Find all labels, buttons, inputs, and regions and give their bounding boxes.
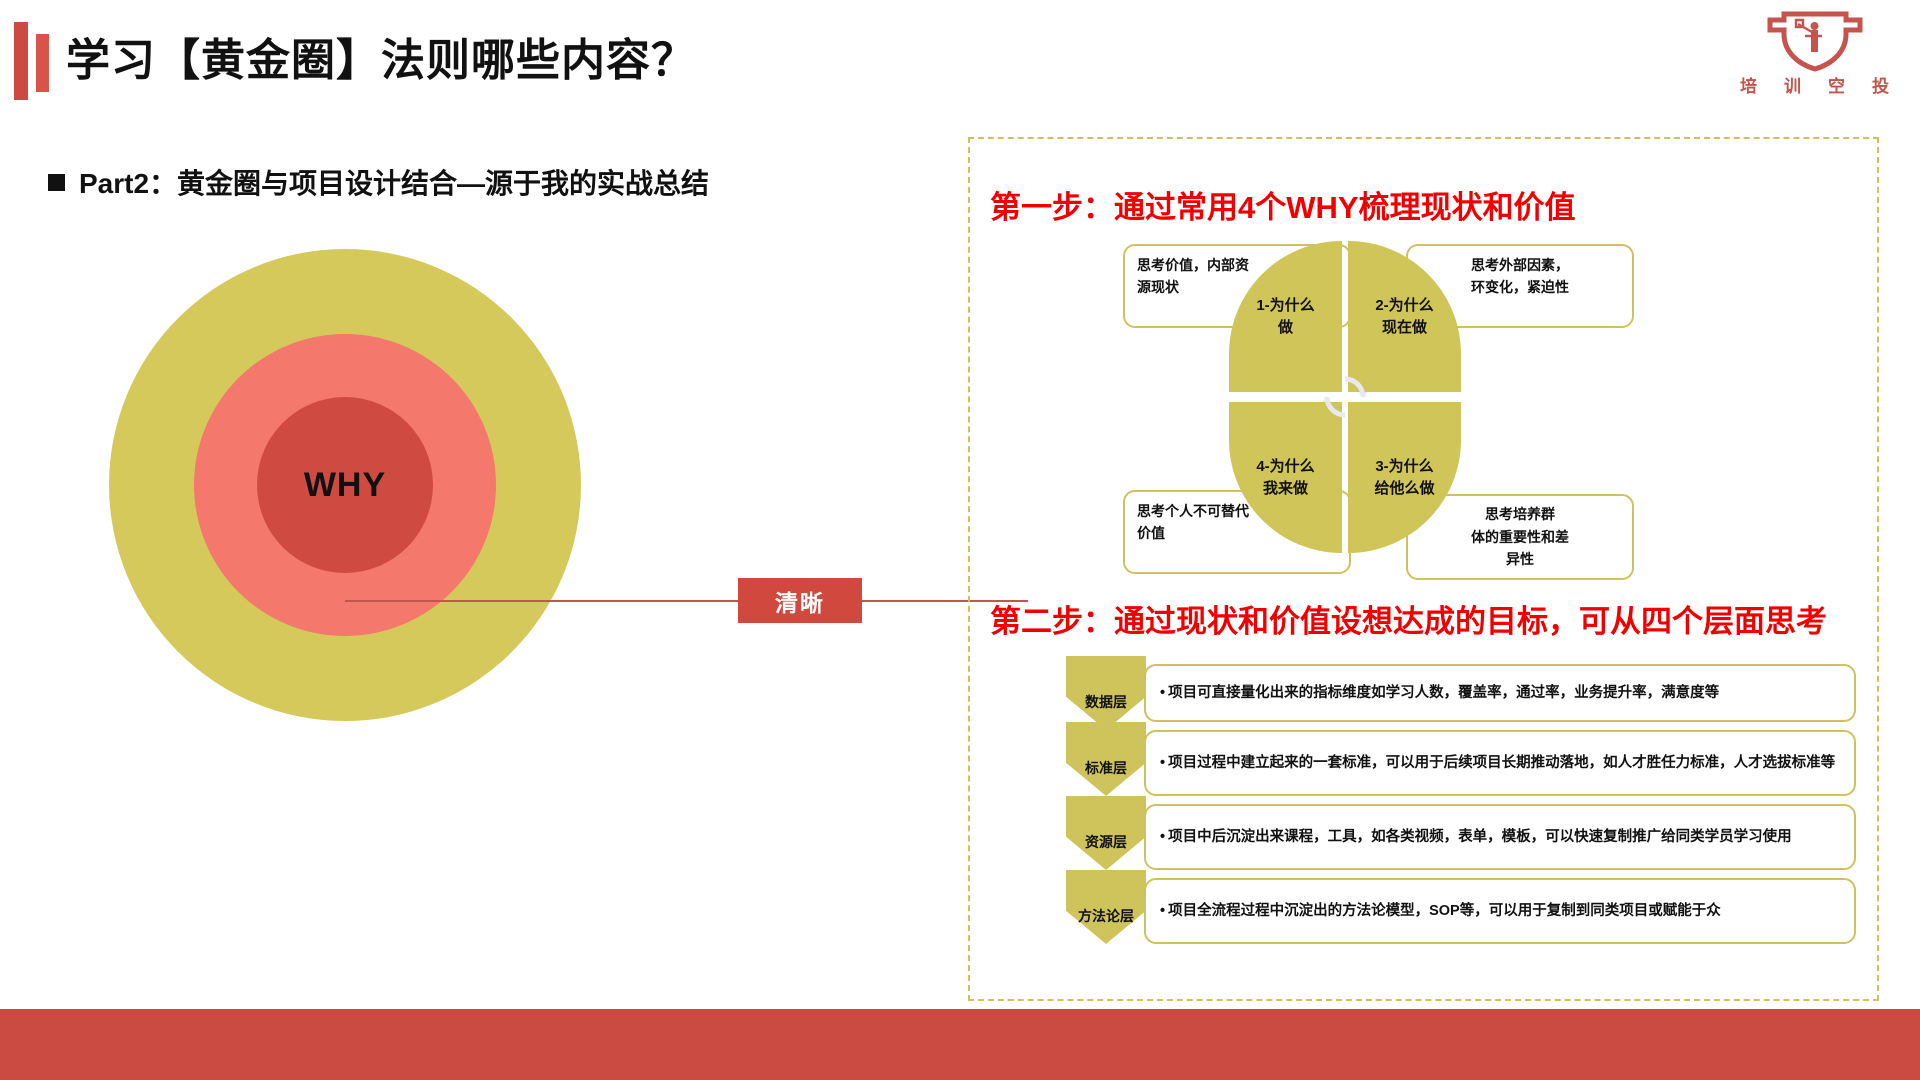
logo-char-2: 训 bbox=[1784, 72, 1802, 97]
step1-heading: 第一步：通过常用4个WHY梳理现状和价值 bbox=[990, 182, 1576, 227]
list-bullet-icon: • bbox=[1160, 752, 1165, 774]
title-accent-bar-outer bbox=[14, 22, 28, 100]
layer-description-1: 项目过程中建立起来的一套标准，可以用于后续项目长期推动落地，如人才胜任力标准，人… bbox=[1168, 752, 1835, 774]
brand-logo: 培 训 空 投 bbox=[1740, 6, 1890, 104]
square-bullet-icon bbox=[48, 174, 65, 191]
list-bullet-icon: • bbox=[1160, 900, 1165, 922]
why-callout-top-right-text: 思考外部因素，环变化，紧迫性 bbox=[1471, 257, 1569, 295]
layer-row: 标准层 • 项目过程中建立起来的一套标准，可以用于后续项目长期推动落地，如人才胜… bbox=[1066, 730, 1856, 796]
layer-description-box-1: • 项目过程中建立起来的一套标准，可以用于后续项目长期推动落地，如人才胜任力标准… bbox=[1144, 730, 1856, 796]
layer-name-3: 方法论层 bbox=[1066, 906, 1146, 926]
part-label-text: Part2：黄金圈与项目设计结合—源于我的实战总结 bbox=[79, 162, 709, 202]
layer-description-0: 项目可直接量化出来的指标维度如学习人数，覆盖率，通过率，业务提升率，满意度等 bbox=[1168, 682, 1719, 704]
part-label: Part2：黄金圈与项目设计结合—源于我的实战总结 bbox=[48, 162, 709, 202]
circular-arrows-icon bbox=[1318, 370, 1372, 424]
layer-description-box-0: • 项目可直接量化出来的指标维度如学习人数，覆盖率，通过率，业务提升率，满意度等 bbox=[1144, 664, 1856, 722]
layer-description-box-2: • 项目中后沉淀出来课程，工具，如各类视频，表单，模板，可以快速复制推广给同类学… bbox=[1144, 804, 1856, 870]
four-layers-list: 数据层 • 项目可直接量化出来的指标维度如学习人数，覆盖率，通过率，业务提升率，… bbox=[1066, 664, 1856, 952]
layer-description-3: 项目全流程过程中沉淀出的方法论模型，SOP等，可以用于复制到同类项目或赋能于众 bbox=[1168, 900, 1721, 922]
page-title: 学习【黄金圈】法则哪些内容？ bbox=[66, 24, 696, 88]
logo-char-1: 培 bbox=[1740, 72, 1758, 97]
logo-wordmark: 培 训 空 投 bbox=[1740, 72, 1890, 97]
shield-person-icon bbox=[1762, 6, 1868, 72]
bottom-accent-bar bbox=[0, 1009, 1920, 1080]
why-quadrant-bottom-left: 4-为什么我来做 bbox=[1229, 402, 1342, 553]
clarity-callout-badge: 清晰 bbox=[738, 578, 862, 623]
golden-circle-diagram: WHY bbox=[109, 249, 581, 721]
list-bullet-icon: • bbox=[1160, 682, 1165, 704]
layer-row: 数据层 • 项目可直接量化出来的指标维度如学习人数，覆盖率，通过率，业务提升率，… bbox=[1066, 664, 1856, 722]
layer-row: 方法论层 • 项目全流程过程中沉淀出的方法论模型，SOP等，可以用于复制到同类项… bbox=[1066, 878, 1856, 944]
logo-char-4: 投 bbox=[1872, 72, 1890, 97]
step2-heading: 第二步：通过现状和价值设想达成的目标，可从四个层面思考 bbox=[990, 596, 1827, 641]
layer-row: 资源层 • 项目中后沉淀出来课程，工具，如各类视频，表单，模板，可以快速复制推广… bbox=[1066, 804, 1856, 870]
layer-description-2: 项目中后沉淀出来课程，工具，如各类视频，表单，模板，可以快速复制推广给同类学员学… bbox=[1168, 826, 1792, 848]
list-bullet-icon: • bbox=[1160, 826, 1165, 848]
layer-name-2: 资源层 bbox=[1066, 832, 1146, 852]
golden-circle-center-label: WHY bbox=[304, 466, 386, 505]
layer-description-box-3: • 项目全流程过程中沉淀出的方法论模型，SOP等，可以用于复制到同类项目或赋能于… bbox=[1144, 878, 1856, 944]
title-accent-bar-inner bbox=[36, 34, 49, 92]
why-quadrant-bottom-right: 3-为什么给他么做 bbox=[1348, 402, 1461, 553]
logo-char-3: 空 bbox=[1828, 72, 1846, 97]
layer-name-1: 标准层 bbox=[1066, 758, 1146, 778]
golden-circle-ring-inner: WHY bbox=[257, 397, 433, 573]
layer-name-0: 数据层 bbox=[1066, 692, 1146, 712]
